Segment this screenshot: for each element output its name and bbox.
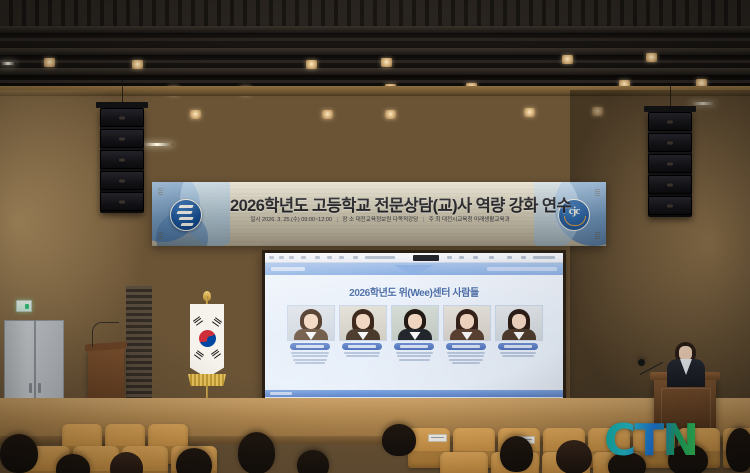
staff-photo <box>391 305 439 341</box>
staff-card <box>443 305 489 364</box>
staff-name-badge <box>342 343 382 350</box>
staff-name-badge <box>498 343 538 350</box>
staff-profile-cards <box>265 305 563 364</box>
staff-description <box>443 352 489 364</box>
presenter <box>664 342 708 386</box>
staff-description <box>495 352 541 357</box>
audience-member <box>0 434 38 473</box>
audience-member <box>500 436 533 472</box>
line-array-speaker-left <box>100 108 144 213</box>
audience-member <box>556 440 592 473</box>
exit-sign-icon <box>16 300 32 312</box>
audience-member <box>726 428 750 472</box>
staff-name-badge <box>290 343 330 350</box>
staff-card <box>495 305 541 364</box>
staff-card <box>391 305 437 364</box>
staff-card <box>339 305 385 364</box>
staff-photo <box>443 305 491 341</box>
auditorium-photo: cjc 2026학년도 고등학교 전문상담(교)사 역량 강화 연수 일시 20… <box>0 0 750 473</box>
projection-screen: 2026학년도 위(Wee)센터 사람들 <box>262 250 566 402</box>
staff-description <box>339 352 385 357</box>
ctn-broadcaster-logo: CTN <box>604 419 697 463</box>
powerpoint-ribbon[interactable] <box>265 253 563 263</box>
ribbon-active-tab[interactable] <box>413 255 439 261</box>
seat-reserved-tag <box>428 434 447 442</box>
lectern-microphone-icon <box>640 352 670 382</box>
audience-member <box>382 424 416 456</box>
microphone-icon <box>92 322 119 347</box>
taegeuk-icon <box>199 330 216 347</box>
slide-status-bar <box>265 390 563 397</box>
staff-description <box>287 352 333 364</box>
audience-member <box>297 450 329 473</box>
auditorium-seat[interactable] <box>440 452 488 473</box>
staff-card <box>287 305 333 364</box>
staff-name-badge <box>446 343 486 350</box>
staff-name-badge <box>394 343 434 350</box>
staff-photo <box>287 305 335 341</box>
audience-member <box>238 432 275 473</box>
flag-fringe <box>188 374 226 386</box>
slide-content: 2026학년도 위(Wee)센터 사람들 <box>265 275 563 390</box>
line-array-speaker-right <box>648 112 692 217</box>
ceiling-grille <box>0 0 750 26</box>
staff-description <box>391 352 437 361</box>
event-banner: cjc 2026학년도 고등학교 전문상담(교)사 역량 강화 연수 일시 20… <box>152 182 606 246</box>
flag-cloth <box>190 304 224 378</box>
staff-photo <box>495 305 543 341</box>
slide-title: 2026학년도 위(Wee)센터 사람들 <box>265 284 563 299</box>
staff-photo <box>339 305 387 341</box>
